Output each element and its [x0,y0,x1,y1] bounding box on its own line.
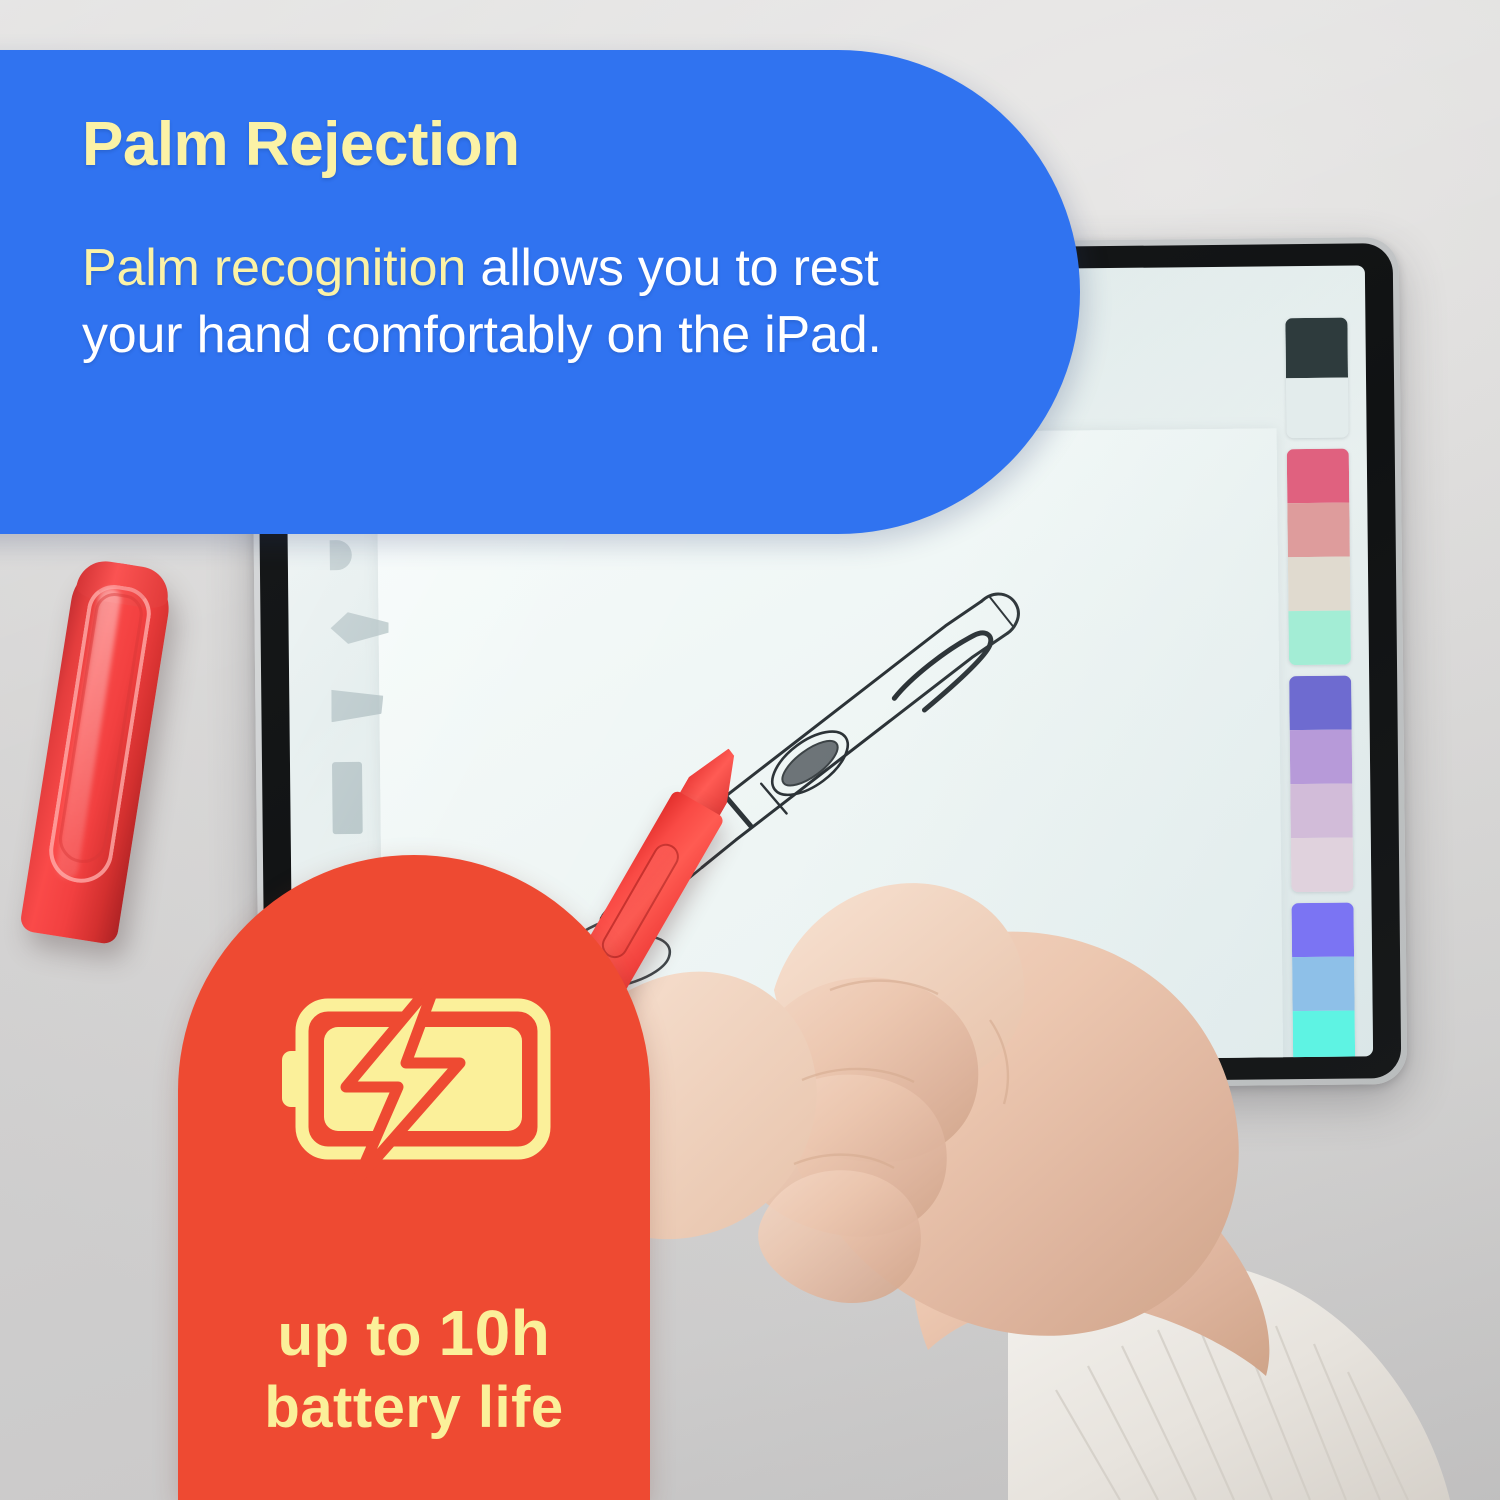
banner-body-highlight: Palm recognition [82,239,466,297]
banner-title: Palm Rejection [82,112,962,177]
hand-holding-stylus [690,690,1500,1500]
marketing-image: LAMY Palm Rejection Palm recognition all… [0,0,1500,1500]
swatch-white[interactable] [1286,378,1349,439]
banner-content: Palm Rejection Palm recognition allows y… [82,112,962,368]
swatch-mint[interactable] [1288,611,1351,666]
battery-badge-line1: up to 10h [264,1301,563,1366]
battery-badge-line2: battery life [264,1376,563,1441]
swatch-beige[interactable] [1288,557,1351,612]
swatch-salmon[interactable] [1287,503,1350,558]
battery-badge-value: 10h [439,1297,551,1369]
palm-rejection-banner: Palm Rejection Palm recognition allows y… [0,50,1080,534]
swatch-charcoal[interactable] [1285,318,1348,379]
banner-body: Palm recognition allows you to rest your… [82,235,962,368]
battery-life-badge: up to 10h battery life [178,855,650,1500]
battery-badge-text: up to 10h battery life [264,1301,563,1441]
swatch-pink[interactable] [1287,449,1350,504]
battery-charging-icon [280,983,548,1173]
swatch-group-2[interactable] [1287,449,1351,666]
battery-badge-prefix: up to [278,1303,439,1368]
swatch-group-1[interactable] [1285,318,1348,439]
